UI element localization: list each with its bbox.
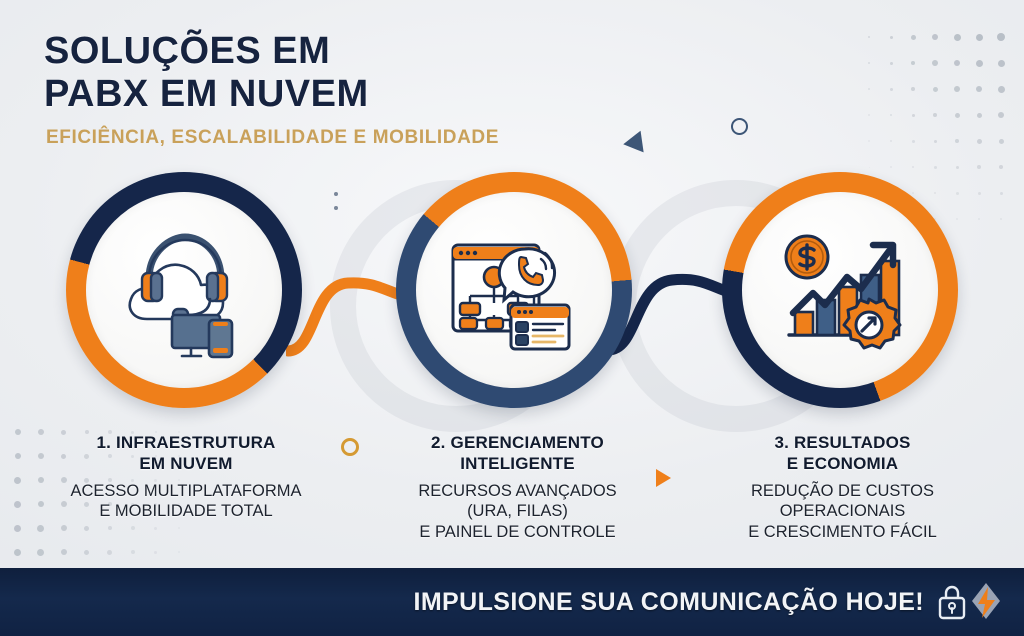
- step-2-circle[interactable]: [396, 172, 632, 408]
- step-2-heading: 2. GERENCIAMENTO INTELIGENTE: [375, 432, 660, 475]
- dot-pair-navy-icon: [334, 192, 338, 196]
- step-1-heading-line2: EM NUVEM: [46, 453, 326, 474]
- lightning-bolt-icon: [966, 581, 1006, 623]
- step-2-icon-area: [416, 192, 612, 388]
- dot-pair-navy-icon-2: [334, 206, 338, 210]
- growth-chart-money-gear-icon: [765, 215, 915, 365]
- step-3-desc-line2: OPERACIONAIS: [700, 501, 985, 522]
- title-line-1: SOLUÇÕES EM: [44, 30, 369, 73]
- cta-icons: [936, 581, 1006, 623]
- step-3-heading-line1: 3. RESULTADOS: [700, 432, 985, 453]
- step-1-caption: 1. INFRAESTRUTURA EM NUVEM ACESSO MULTIP…: [46, 432, 326, 522]
- circle-outline-gold-icon: [341, 438, 359, 456]
- step-1-heading-line1: 1. INFRAESTRUTURA: [46, 432, 326, 453]
- infographic-canvas: SOLUÇÕES EM PABX EM NUVEM EFICIÊNCIA, ES…: [0, 0, 1024, 636]
- step-3-circle[interactable]: [722, 172, 958, 408]
- step-1-desc-line2: E MOBILIDADE TOTAL: [46, 501, 326, 522]
- step-2-desc-line2: (URA, FILAS): [375, 501, 660, 522]
- step-3-description: REDUÇÃO DE CUSTOS OPERACIONAIS E CRESCIM…: [700, 481, 985, 544]
- triangle-navy-icon: [623, 127, 651, 153]
- padlock-icon: [936, 583, 968, 621]
- step-3-desc-line3: E CRESCIMENTO FÁCIL: [700, 522, 985, 543]
- page-subtitle: EFICIÊNCIA, ESCALABILIDADE E MOBILIDADE: [46, 127, 499, 149]
- cta-banner: IMPULSIONE SUA COMUNICAÇÃO HOJE!: [0, 568, 1024, 636]
- step-2-description: RECURSOS AVANÇADOS (URA, FILAS) E PAINEL…: [375, 481, 660, 544]
- step-3-icon-area: [742, 192, 938, 388]
- step-1-description: ACESSO MULTIPLATAFORMA E MOBILIDADE TOTA…: [46, 481, 326, 523]
- cta-text: IMPULSIONE SUA COMUNICAÇÃO HOJE!: [413, 588, 924, 617]
- step-2-desc-line3: E PAINEL DE CONTROLE: [375, 522, 660, 543]
- step-3-desc-line1: REDUÇÃO DE CUSTOS: [700, 481, 985, 502]
- step-2-desc-line1: RECURSOS AVANÇADOS: [375, 481, 660, 502]
- page-title: SOLUÇÕES EM PABX EM NUVEM: [44, 30, 369, 115]
- step-1-circle[interactable]: [66, 172, 302, 408]
- circle-outline-navy-icon: [731, 118, 748, 135]
- step-2-heading-line1: 2. GERENCIAMENTO: [375, 432, 660, 453]
- cloud-headset-devices-icon: [109, 215, 259, 365]
- step-2-caption: 2. GERENCIAMENTO INTELIGENTE RECURSOS AV…: [375, 432, 660, 543]
- flowchart-call-dashboard-icon: [439, 215, 589, 365]
- step-1-icon-area: [86, 192, 282, 388]
- step-3-heading: 3. RESULTADOS E ECONOMIA: [700, 432, 985, 475]
- step-2-heading-line2: INTELIGENTE: [375, 453, 660, 474]
- title-line-2: PABX EM NUVEM: [44, 73, 369, 116]
- step-1-desc-line1: ACESSO MULTIPLATAFORMA: [46, 481, 326, 502]
- step-1-heading: 1. INFRAESTRUTURA EM NUVEM: [46, 432, 326, 475]
- step-3-heading-line2: E ECONOMIA: [700, 453, 985, 474]
- step-3-caption: 3. RESULTADOS E ECONOMIA REDUÇÃO DE CUST…: [700, 432, 985, 543]
